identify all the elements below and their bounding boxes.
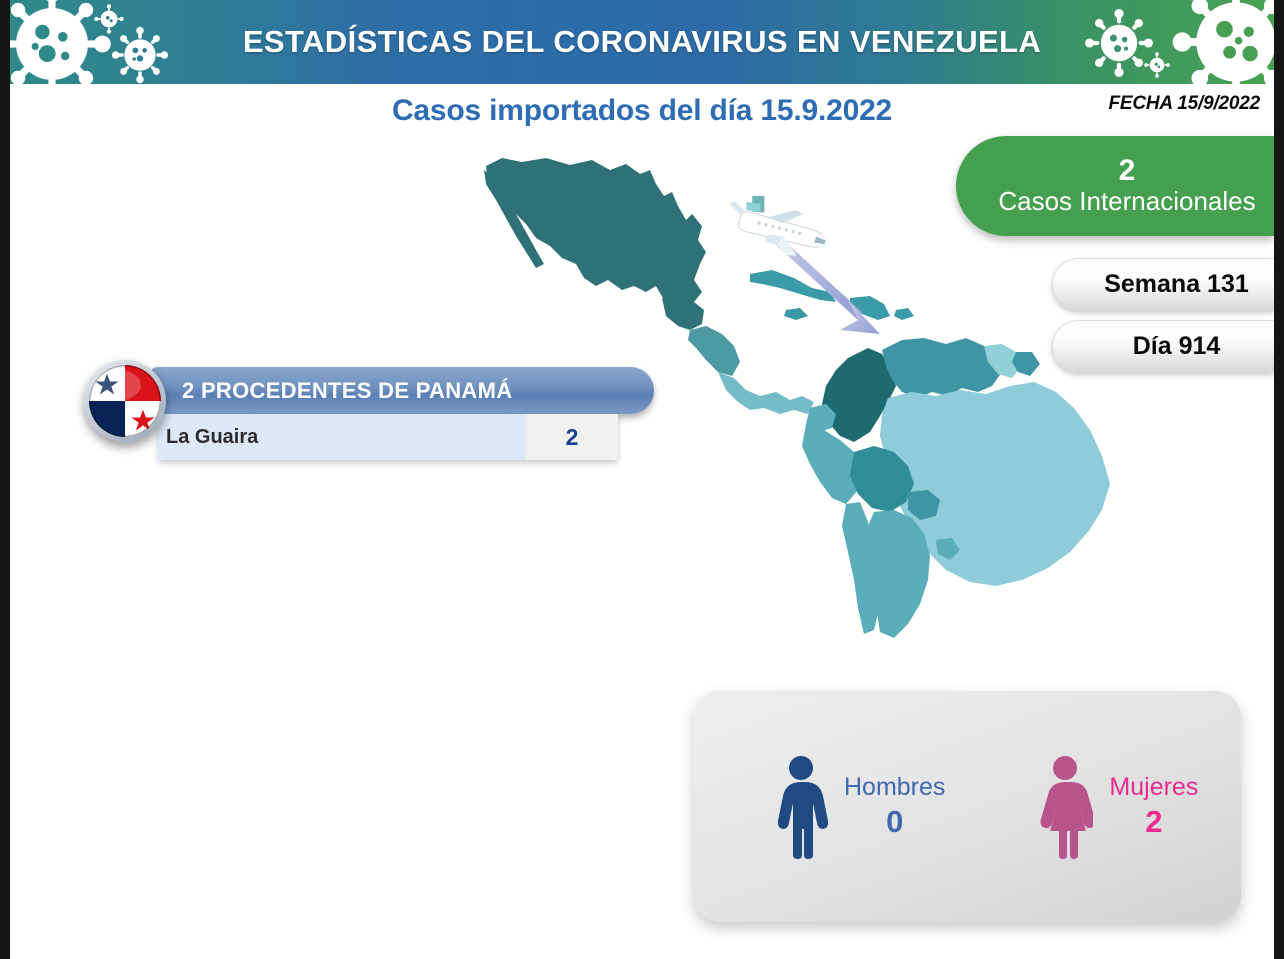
international-cases-badge: 2 Casos Internacionales <box>956 136 1274 236</box>
international-cases-count: 2 <box>1119 155 1136 187</box>
panama-flag-icon <box>84 360 166 442</box>
gender-breakdown-panel: Hombres 0 Mujeres 2 <box>694 691 1241 922</box>
map-region-costarica-panama <box>718 372 814 414</box>
date-label: FECHA 15/9/2022 <box>1108 93 1260 115</box>
infographic-canvas: ESTADÍSTICAS DEL CORONAVIRUS EN VENEZUEL… <box>0 0 1284 959</box>
men-text: Hombres 0 <box>844 772 945 842</box>
subtitle: Casos importados del día 15.9.2022 <box>10 88 1274 134</box>
header-banner: ESTADÍSTICAS DEL CORONAVIRUS EN VENEZUEL… <box>10 0 1274 84</box>
table-row: La Guaira 2 <box>158 414 618 460</box>
female-figure-icon <box>1037 755 1093 859</box>
women-stat: Mujeres 2 <box>1037 755 1198 859</box>
page-title: ESTADÍSTICAS DEL CORONAVIRUS EN VENEZUEL… <box>10 0 1274 84</box>
women-text: Mujeres 2 <box>1109 772 1198 842</box>
airplane-icon <box>716 196 836 268</box>
international-cases-label: Casos Internacionales <box>998 187 1255 217</box>
origin-panel-header: 2 PROCEDENTES DE PANAMÁ <box>150 367 654 414</box>
men-label: Hombres <box>844 772 945 803</box>
state-case-count: 2 <box>526 414 618 460</box>
women-label: Mujeres <box>1109 772 1198 803</box>
men-stat: Hombres 0 <box>774 755 945 859</box>
origin-panel: 2 PROCEDENTES DE PANAMÁ La Guaira 2 <box>84 360 654 480</box>
day-badge: Día 914 <box>1052 320 1274 372</box>
men-value: 0 <box>886 803 903 842</box>
women-value: 2 <box>1145 803 1162 842</box>
male-figure-icon <box>774 755 828 859</box>
map-region-honduras-nicaragua <box>688 326 740 376</box>
week-badge: Semana 131 <box>1052 258 1274 310</box>
state-name: La Guaira <box>158 414 526 460</box>
